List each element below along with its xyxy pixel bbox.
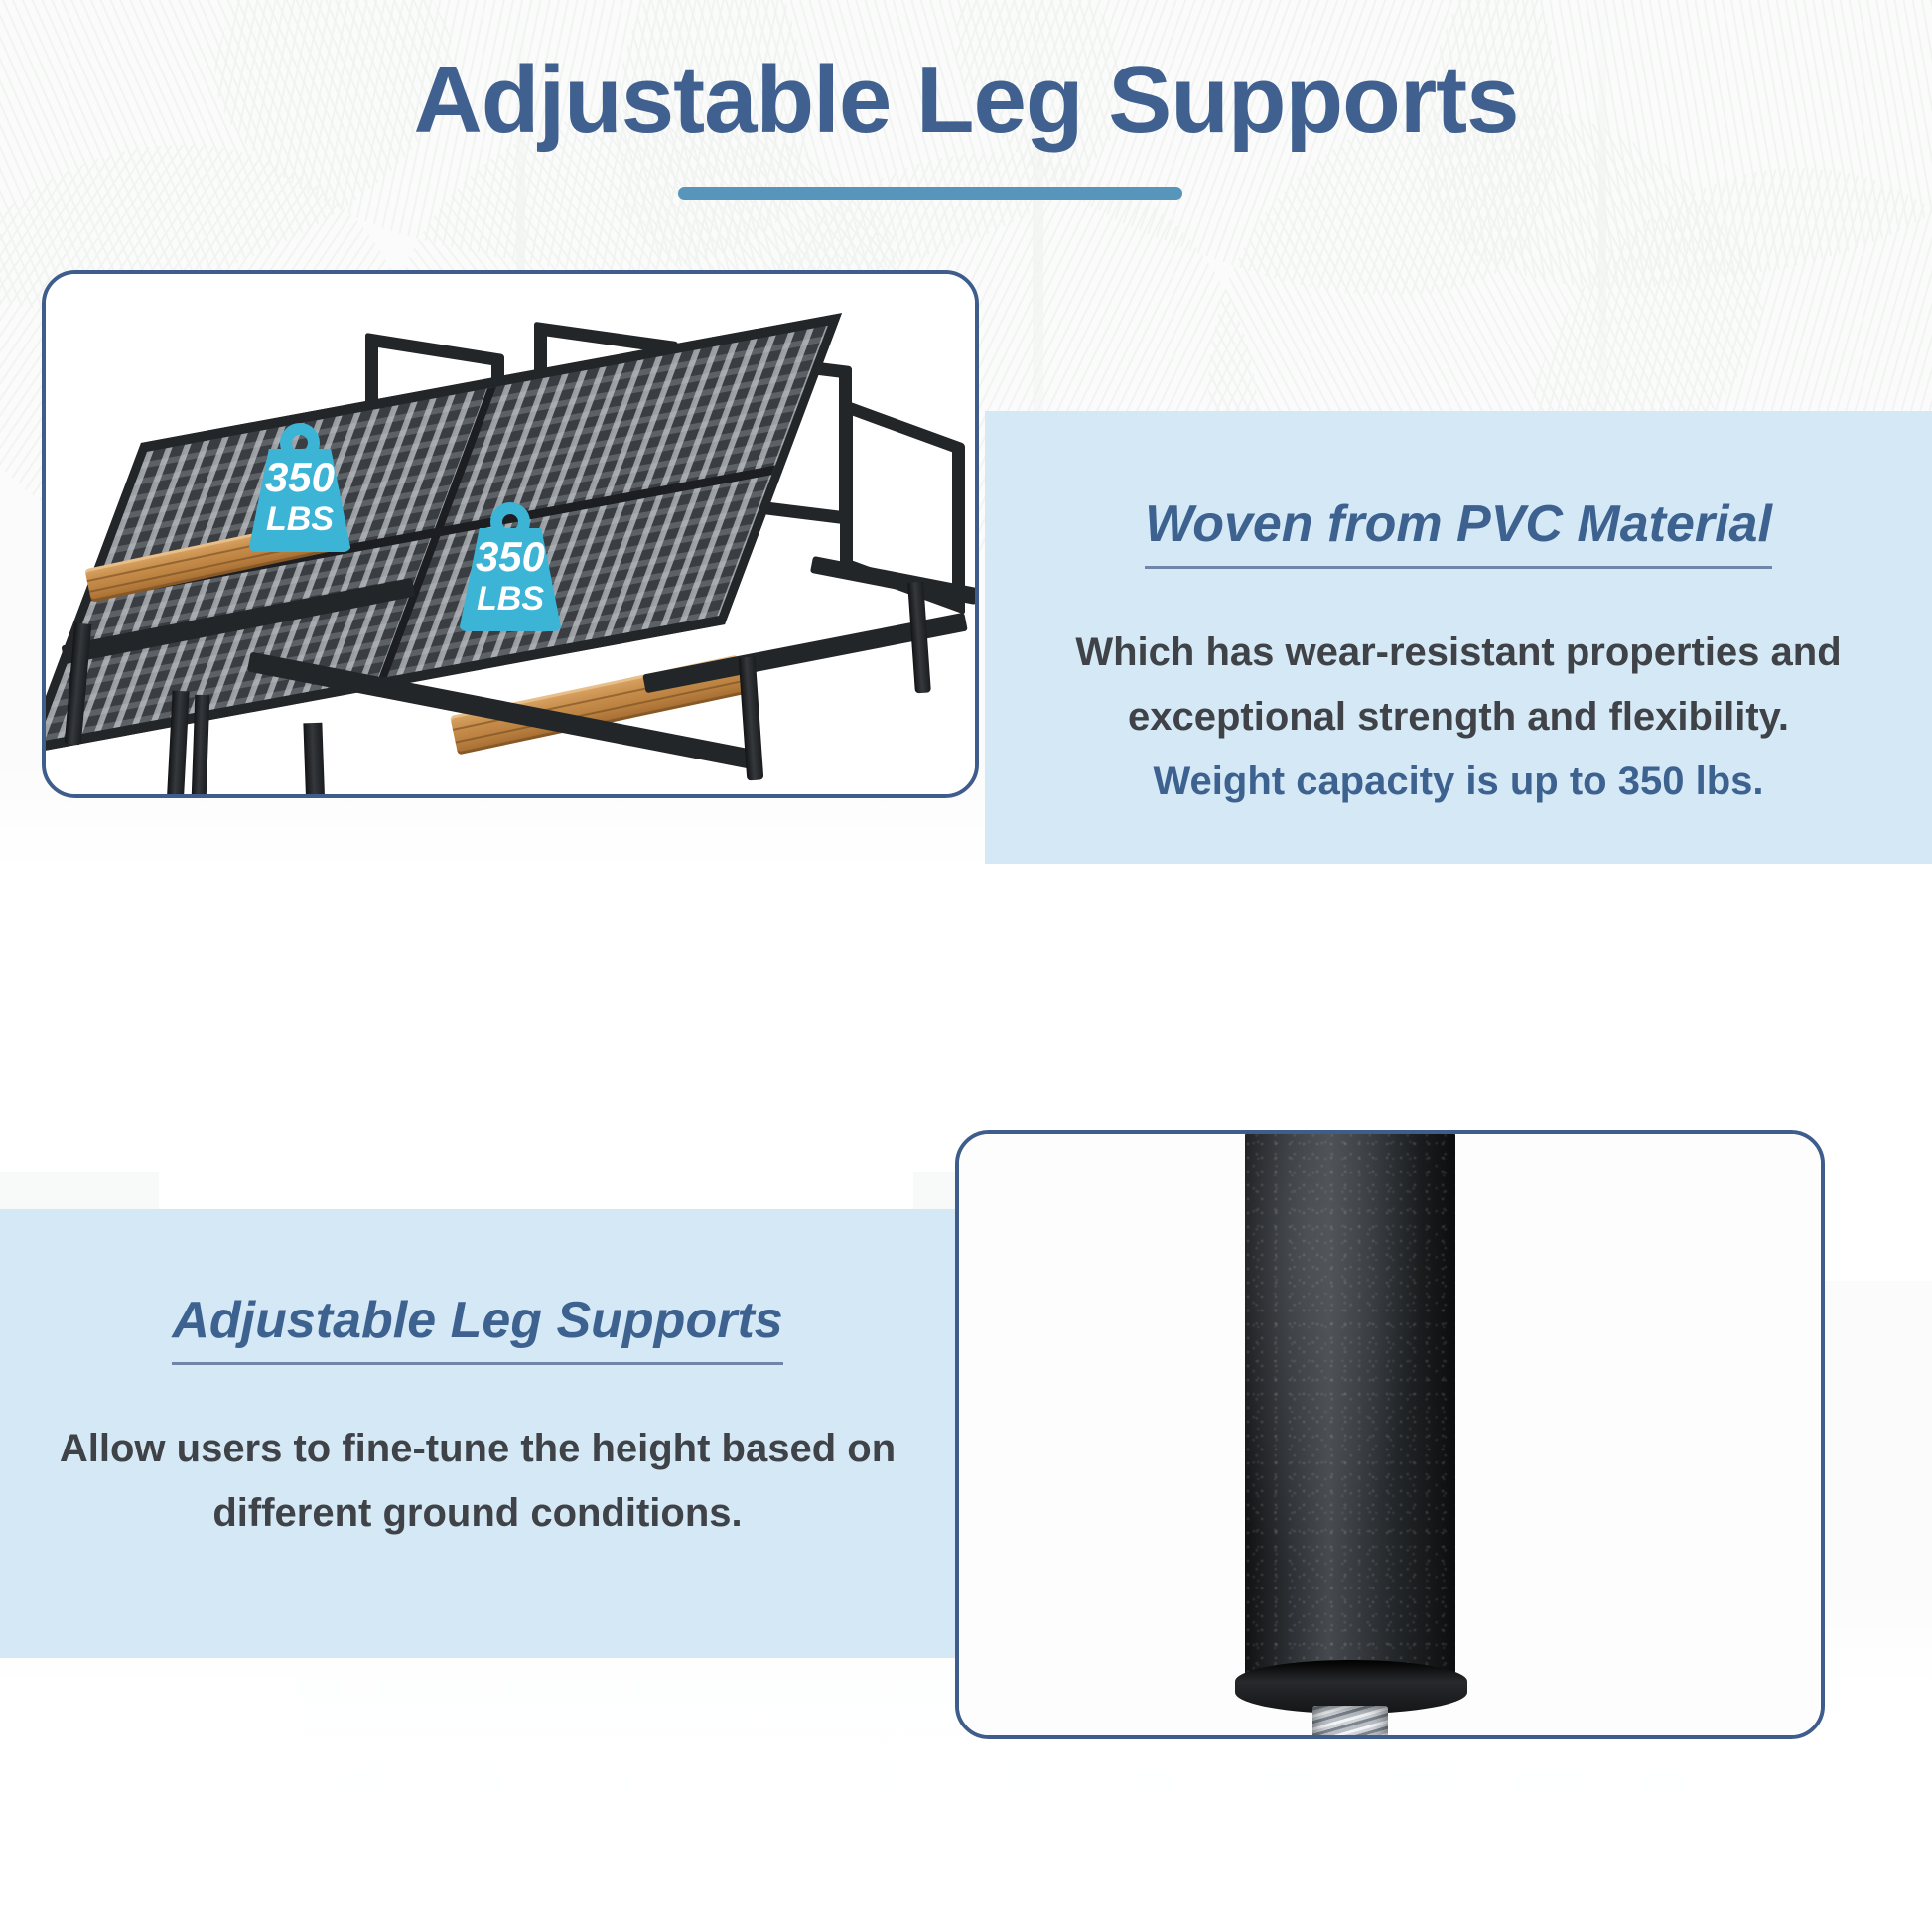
- feature-block-woven-pvc: Woven from PVC Material Which has wear-r…: [985, 494, 1932, 813]
- leg-closeup-photo-card: [955, 1130, 1825, 1739]
- feature-line: Allow users to fine-tune the height base…: [0, 1417, 955, 1481]
- header: Adjustable Leg Supports: [0, 0, 1932, 238]
- feature-body: Which has wear-resistant properties and …: [985, 621, 1932, 813]
- product-photo-card: 350 LBS 350 LBS: [42, 270, 979, 798]
- feature-line: exceptional strength and flexibility.: [985, 685, 1932, 750]
- leg-tube: [1245, 1130, 1455, 1676]
- badge-weight-number: 350: [248, 457, 351, 498]
- feature-line: Weight capacity is up to 350 lbs.: [985, 750, 1932, 814]
- page-title: Adjustable Leg Supports: [0, 46, 1932, 155]
- feature-body: Allow users to fine-tune the height base…: [0, 1417, 955, 1546]
- feature-line: different ground conditions.: [0, 1481, 955, 1546]
- badge-weight-number: 350: [459, 536, 562, 578]
- feature-title: Woven from PVC Material: [1145, 494, 1772, 569]
- daybed-frame-illustration: 350 LBS 350 LBS: [46, 274, 975, 794]
- adjustable-leg-illustration: [959, 1134, 1821, 1735]
- threaded-screw-icon: [1312, 1706, 1388, 1739]
- feature-line: Which has wear-resistant properties and: [985, 621, 1932, 685]
- support-leg: [303, 723, 327, 798]
- title-underline-bar: [678, 187, 1182, 200]
- badge-weight-unit: LBS: [248, 502, 351, 536]
- feature-title: Adjustable Leg Supports: [172, 1291, 782, 1365]
- badge-weight-unit: LBS: [459, 582, 562, 616]
- feature-block-adjustable-legs: Adjustable Leg Supports Allow users to f…: [0, 1291, 955, 1546]
